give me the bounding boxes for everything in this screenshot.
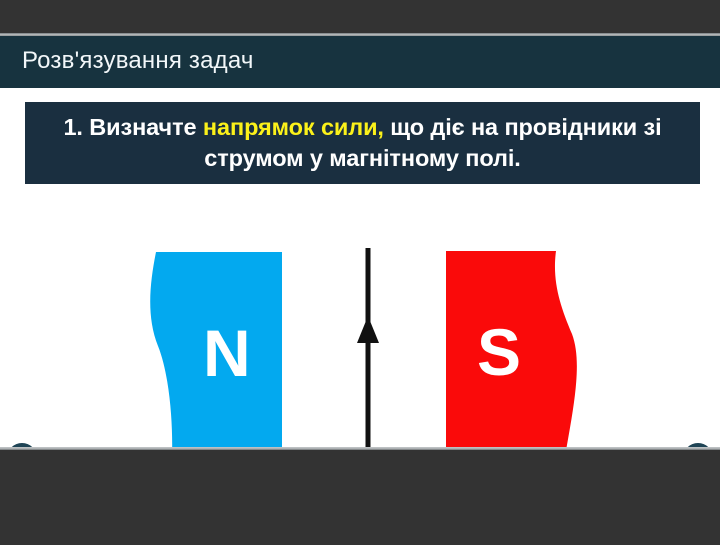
task-text: 1. Визначте напрямок сили, що діє на про…: [33, 112, 692, 173]
south-pole-letter: S: [477, 319, 521, 385]
task-text-highlight: напрямок сили,: [203, 114, 384, 140]
current-arrowhead: [357, 316, 379, 343]
north-pole-letter: N: [203, 320, 251, 386]
page-title: Розв'язування задач: [22, 47, 254, 75]
task-text-before: Визначте: [89, 114, 203, 140]
physics-figure: N S I: [0, 186, 720, 447]
top-letterbox-band: [0, 0, 720, 33]
slide-title-bar: Розв'язування задач: [0, 36, 720, 88]
bottom-letterbox-band: [0, 450, 720, 545]
slide-canvas: Розв'язування задач 1. Визначте напрямок…: [0, 36, 720, 447]
slide-viewer: Розв'язування задач 1. Визначте напрямок…: [0, 0, 720, 545]
magnet-diagram: [0, 186, 720, 447]
task-number: 1.: [63, 114, 89, 140]
task-callout-box: 1. Визначте напрямок сили, що діє на про…: [25, 102, 700, 184]
